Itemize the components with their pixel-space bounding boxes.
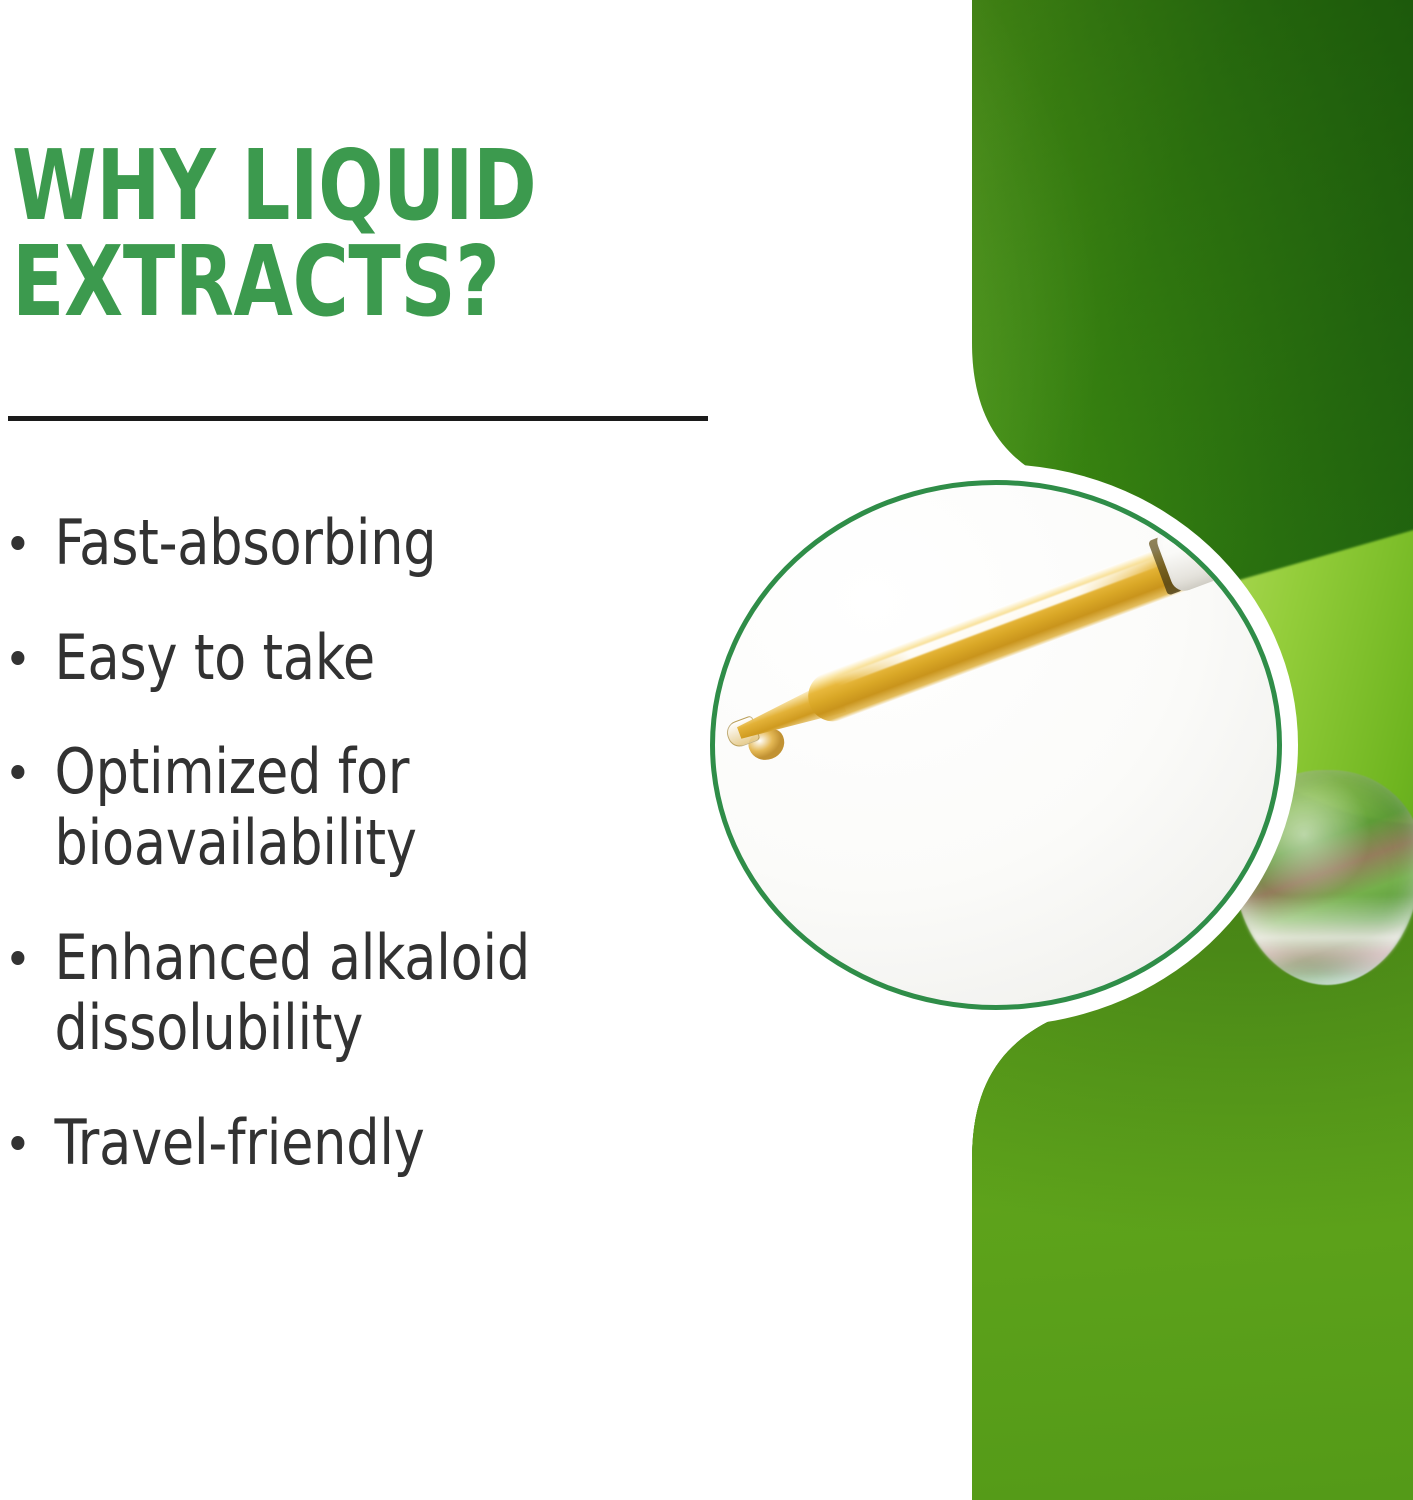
infographic-canvas: WHY LIQUID EXTRACTS? Fast-absorbing Easy… — [0, 0, 1413, 1500]
list-item: Enhanced alkaloid dissolubility — [0, 923, 696, 1064]
bullet-dot-icon — [11, 1136, 24, 1150]
page-title: WHY LIQUID EXTRACTS? — [12, 138, 646, 330]
text-content-panel: WHY LIQUID EXTRACTS? Fast-absorbing Easy… — [0, 0, 760, 1500]
list-item: Easy to take — [0, 623, 696, 694]
pipette-specular-highlight — [834, 552, 1174, 687]
list-item-label: Optimized for bioavailability — [55, 735, 417, 879]
list-item: Travel-friendly — [0, 1108, 696, 1179]
list-item-label: Enhanced alkaloid dissolubility — [55, 921, 530, 1065]
benefits-list: Fast-absorbing Easy to take Optimized fo… — [0, 508, 740, 1223]
bullet-dot-icon — [11, 951, 24, 965]
list-item-label: Easy to take — [55, 621, 375, 694]
bullet-dot-icon — [11, 651, 24, 665]
bullet-dot-icon — [11, 536, 24, 550]
dropper-inset-circle — [710, 480, 1282, 1010]
list-item-label: Travel-friendly — [55, 1106, 425, 1179]
title-divider — [8, 416, 708, 421]
list-item-label: Fast-absorbing — [55, 506, 437, 579]
list-item: Optimized for bioavailability — [0, 737, 696, 878]
bullet-dot-icon — [11, 765, 24, 779]
list-item: Fast-absorbing — [0, 508, 696, 579]
